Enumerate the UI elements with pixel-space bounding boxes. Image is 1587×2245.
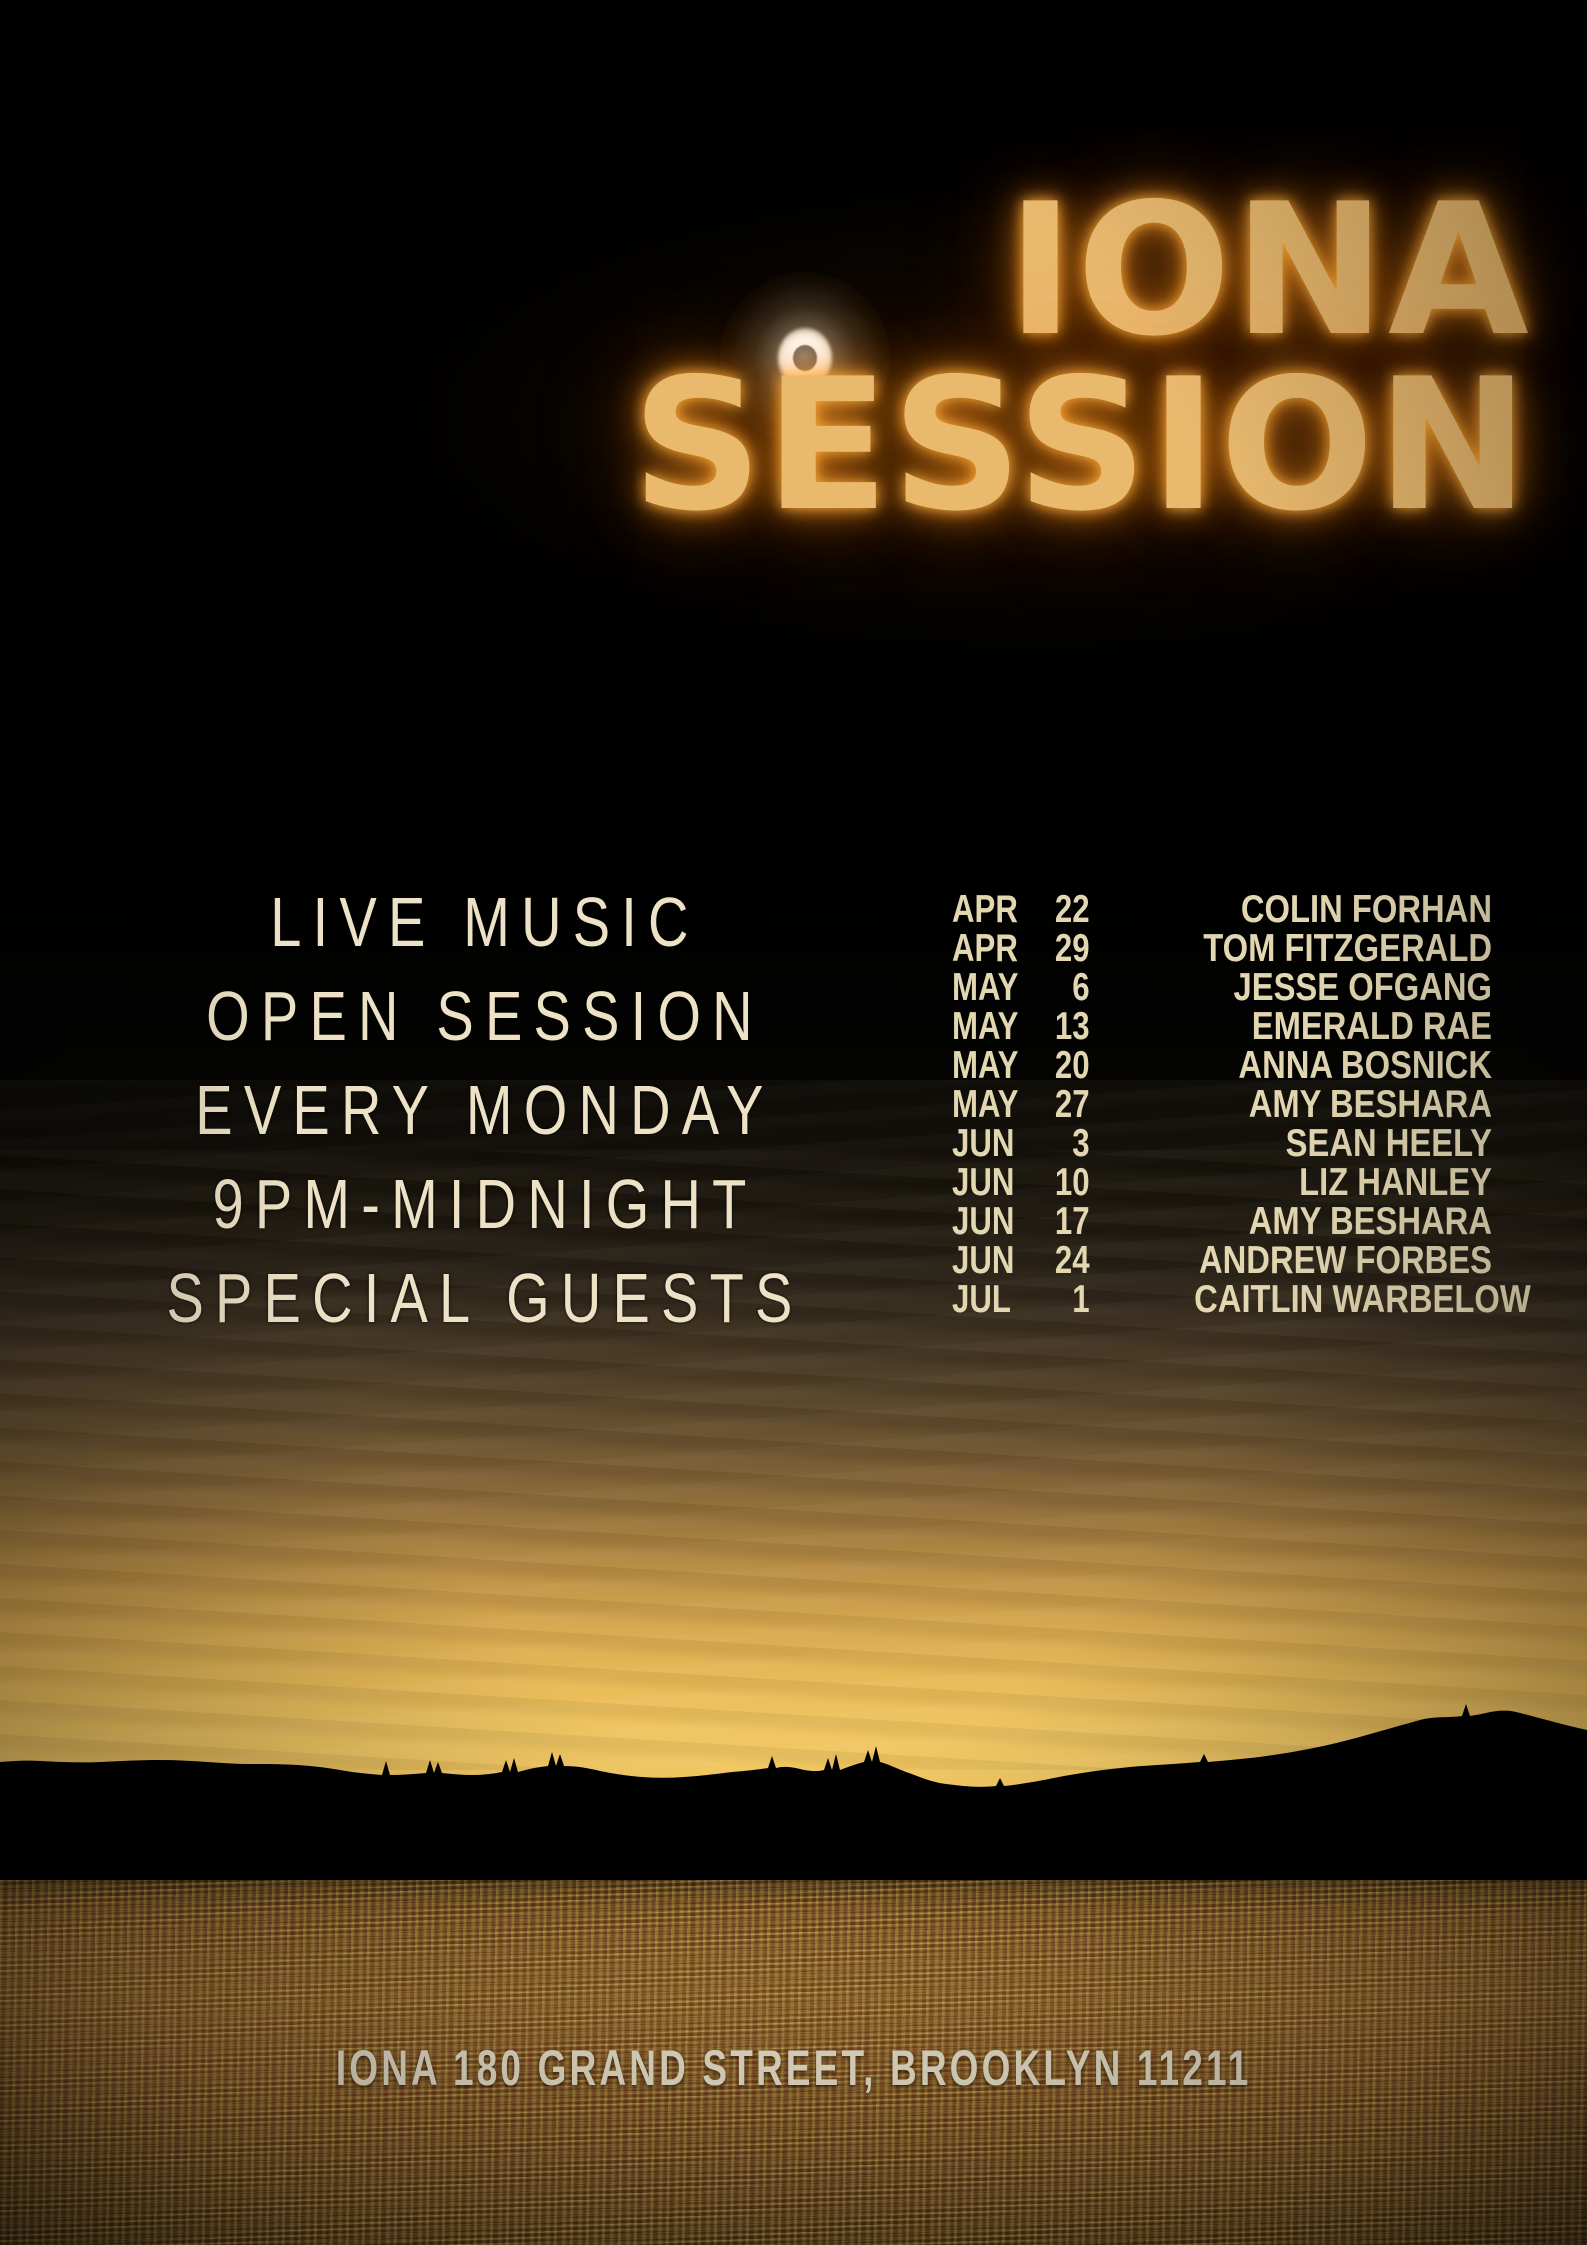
lineup-month: JUN [952,1202,1045,1241]
lineup-day: 10 [1045,1163,1095,1202]
list-item: MAY 27 AMY BESHARA [952,1085,1492,1124]
lineup-performer: AMY BESHARA [1188,1202,1492,1241]
lineup-performer: CAITLIN WARBELOW [1194,1280,1531,1319]
info-line-every-monday: EVERY MONDAY [129,1063,841,1157]
list-item: JUN 10 LIZ HANLEY [952,1163,1492,1202]
lineup-performer: EMERALD RAE [1188,1007,1492,1046]
lineup-date: MAY 20 [952,1046,1094,1085]
lineup-month: JUN [952,1241,1045,1280]
lineup-day: 17 [1045,1202,1095,1241]
lineup-month: JUN [952,1163,1045,1202]
lineup-day: 22 [1045,890,1095,929]
lineup-performer: SEAN HEELY [1188,1124,1492,1163]
info-line-open-session: OPEN SESSION [129,969,841,1063]
lineup-date: JUL 1 [952,1280,1094,1319]
lineup-performer: LIZ HANLEY [1188,1163,1492,1202]
info-line-live-music: LIVE MUSIC [129,875,841,969]
lineup-day: 1 [1045,1280,1095,1319]
lineup-month: APR [952,929,1045,968]
lineup-month: MAY [952,1085,1045,1124]
lineup-performer: ANNA BOSNICK [1188,1046,1492,1085]
water-reflection-surface [0,1880,1587,2245]
lineup-performer: COLIN FORHAN [1188,890,1492,929]
event-info-block: LIVE MUSIC OPEN SESSION EVERY MONDAY 9PM… [40,875,930,1345]
lineup-performer: TOM FITZGERALD [1188,929,1492,968]
lineup-month: JUL [952,1280,1045,1319]
lineup-date: JUN 3 [952,1124,1094,1163]
list-item: APR 29 TOM FITZGERALD [952,929,1492,968]
lineup-date: MAY 13 [952,1007,1094,1046]
list-item: JUN 17 AMY BESHARA [952,1202,1492,1241]
lineup-date: JUN 17 [952,1202,1094,1241]
info-line-special-guests: SPECIAL GUESTS [129,1251,841,1345]
lineup-performer: ANDREW FORBES [1188,1241,1492,1280]
list-item: JUL 1 CAITLIN WARBELOW [952,1280,1492,1319]
lineup-performer: JESSE OFGANG [1188,968,1492,1007]
list-item: MAY 20 ANNA BOSNICK [952,1046,1492,1085]
lineup-day: 27 [1045,1085,1095,1124]
lineup-day: 24 [1045,1241,1095,1280]
poster-canvas: IONA SESSION LIVE MUSIC OPEN SESSION EVE… [0,0,1587,2245]
lineup-date: APR 22 [952,890,1094,929]
lineup-day: 29 [1045,929,1095,968]
lineup-day: 20 [1045,1046,1095,1085]
list-item: MAY 13 EMERALD RAE [952,1007,1492,1046]
lineup-day: 3 [1045,1124,1095,1163]
lineup-day: 6 [1045,968,1095,1007]
lineup-month: MAY [952,1046,1045,1085]
lineup-day: 13 [1045,1007,1095,1046]
list-item: JUN 3 SEAN HEELY [952,1124,1492,1163]
info-line-time: 9PM-MIDNIGHT [129,1157,841,1251]
list-item: APR 22 COLIN FORHAN [952,890,1492,929]
lineup-schedule-list: APR 22 COLIN FORHAN APR 29 TOM FITZGERAL… [952,890,1492,1319]
list-item: MAY 6 JESSE OFGANG [952,968,1492,1007]
lineup-date: MAY 6 [952,968,1094,1007]
lineup-date: MAY 27 [952,1085,1094,1124]
lineup-month: APR [952,890,1045,929]
lineup-date: JUN 24 [952,1241,1094,1280]
lineup-month: MAY [952,1007,1045,1046]
lineup-date: JUN 10 [952,1163,1094,1202]
lineup-month: MAY [952,968,1045,1007]
lineup-month: JUN [952,1124,1045,1163]
lineup-date: APR 29 [952,929,1094,968]
list-item: JUN 24 ANDREW FORBES [952,1241,1492,1280]
lineup-performer: AMY BESHARA [1188,1085,1492,1124]
